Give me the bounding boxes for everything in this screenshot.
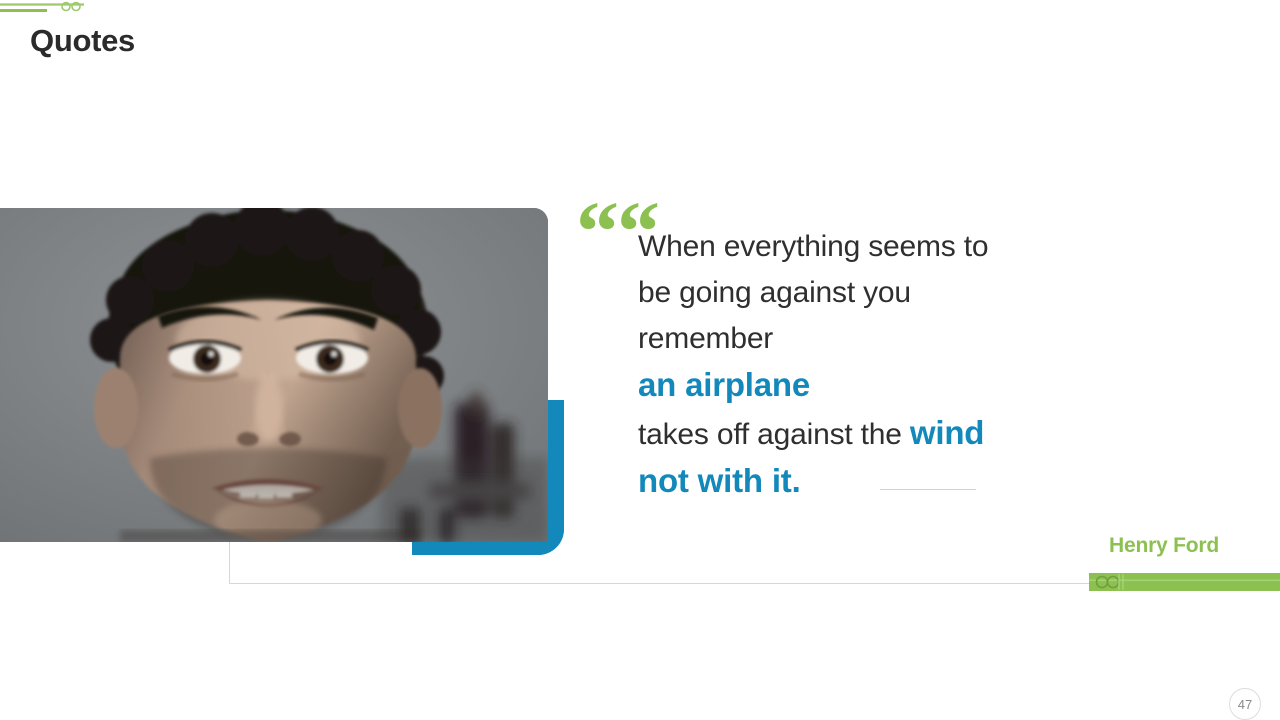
page-number-badge: 47 xyxy=(1229,688,1261,720)
top-ornament-svg xyxy=(0,0,95,16)
quote-line-5: takes off against the wind xyxy=(638,410,1108,458)
quote-accent-not-with-it: not with it. xyxy=(638,462,801,499)
quote-end-rule xyxy=(880,489,976,490)
quote-text: When everything seems to be going agains… xyxy=(638,224,1108,506)
quote-accent-wind: wind xyxy=(910,414,984,451)
quote-plain-takes-off: takes off against the xyxy=(638,418,910,451)
content-frame-horizontal-rule xyxy=(229,583,1095,584)
quote-line-2: be going against you xyxy=(638,270,1108,316)
quote-accent-airplane: an airplane xyxy=(638,366,810,403)
green-bar-link-ornament xyxy=(1089,572,1280,594)
portrait-photo-svg xyxy=(0,208,548,542)
portrait-photo xyxy=(0,208,548,542)
green-line-link-ornament xyxy=(0,0,95,16)
bottom-ornament-svg xyxy=(1089,572,1280,594)
quote-line-6: not with it. xyxy=(638,458,1108,506)
quote-author: Henry Ford xyxy=(1109,534,1219,558)
quote-line-4: an airplane xyxy=(638,362,1108,410)
page-title: Quotes xyxy=(30,24,135,58)
content-frame-vertical-rule xyxy=(229,542,230,584)
quote-line-3: remember xyxy=(638,316,1108,362)
quote-line-1: When everything seems to xyxy=(638,224,1108,270)
